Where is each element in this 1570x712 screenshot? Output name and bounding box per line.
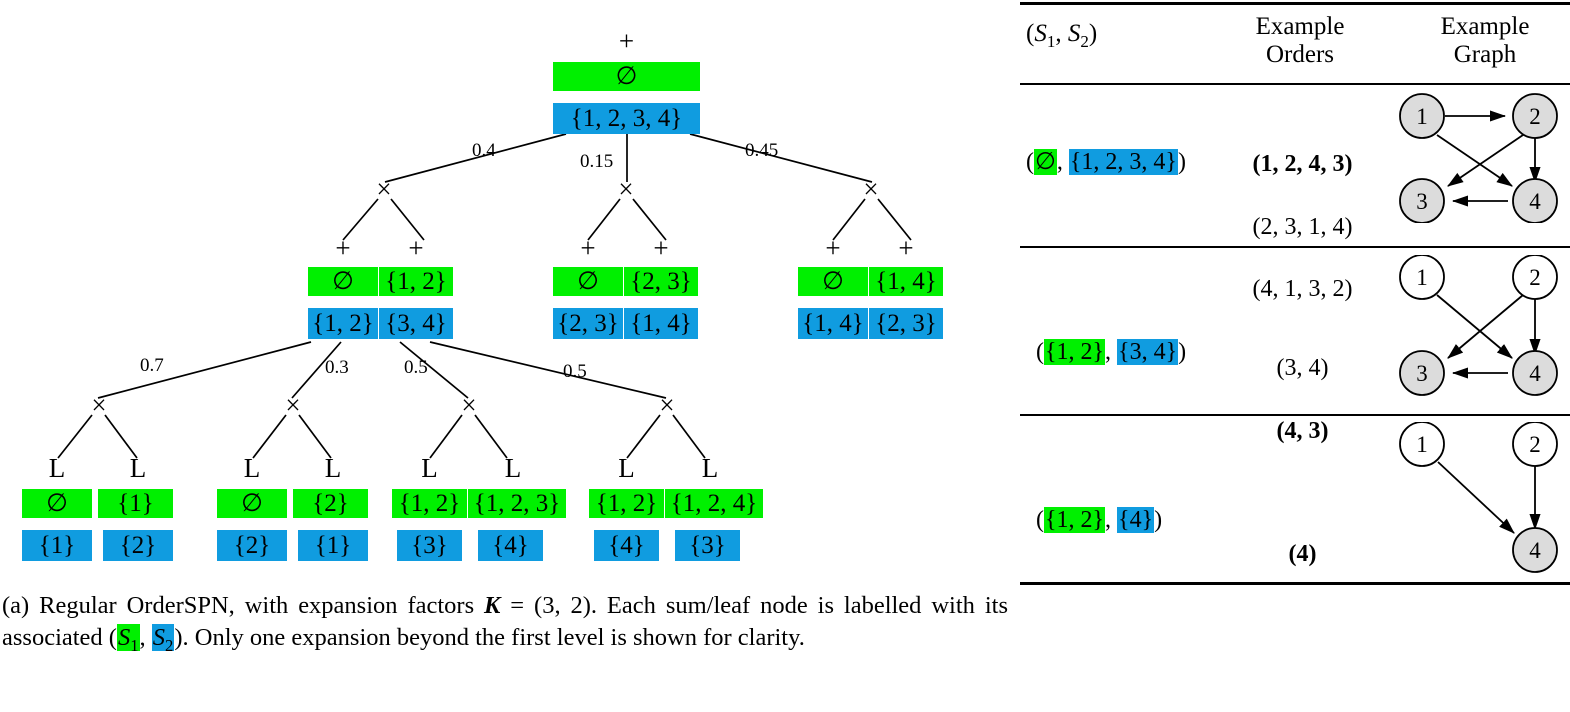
- product-op-0: ×: [369, 176, 399, 203]
- leaf-s2-box-4: {3}: [397, 530, 462, 561]
- caption-a-text-1: Regular OrderSPN, with expansion factors: [29, 592, 484, 619]
- leaf-s1-box-5: {1, 2, 3}: [468, 489, 566, 518]
- level2-weight-3: 0.5: [563, 362, 587, 381]
- leaf-op-2: L: [217, 455, 287, 482]
- sum-s1-box-3: {2, 3}: [624, 267, 698, 296]
- leaf-s1-box-3: {2}: [293, 489, 368, 518]
- leaf-op-5: L: [468, 455, 558, 482]
- level2-weight-2: 0.5: [404, 358, 428, 377]
- caption-a-s2-highlight: S2: [152, 624, 175, 651]
- svg-text:4: 4: [1529, 538, 1541, 563]
- row-2-orders: (4): [1215, 508, 1390, 602]
- leaf-s1-box-4: {1, 2}: [392, 489, 467, 518]
- caption-a-eq: =: [500, 592, 534, 619]
- leaf-s2-box-3: {1}: [298, 530, 368, 561]
- sum-s1-box-1: {1, 2}: [379, 267, 453, 296]
- row-0-order-2: (4, 1, 3, 2): [1215, 274, 1390, 305]
- root-sum-op: +: [553, 28, 700, 55]
- leaf-s2-box-2: {2}: [217, 530, 287, 561]
- sum-s2-box-1: {3, 4}: [379, 308, 453, 339]
- svg-text:2: 2: [1529, 104, 1541, 129]
- row-1-s2: {3, 4}: [1117, 339, 1178, 365]
- svg-text:4: 4: [1529, 189, 1541, 214]
- header-col-orders: Example Orders: [1210, 13, 1390, 69]
- root-weight-2: 0.45: [745, 141, 778, 160]
- header-col-graph: Example Graph: [1400, 13, 1570, 69]
- svg-text:3: 3: [1416, 189, 1428, 214]
- svg-text:1: 1: [1416, 265, 1428, 290]
- svg-text:4: 4: [1529, 361, 1541, 386]
- row-0-orders: (1, 2, 4, 3) (2, 3, 1, 4) (4, 1, 3, 2): [1215, 118, 1390, 336]
- leaf-product-op-1: ×: [278, 392, 308, 419]
- leaf-s1-box-0: ∅: [22, 489, 92, 518]
- row-2-graph: 1 2 4: [1380, 422, 1570, 577]
- sum-s1-box-5: {1, 4}: [869, 267, 943, 296]
- sum-op-5: +: [869, 235, 943, 262]
- root-s2-box: {1, 2, 3, 4}: [553, 103, 700, 134]
- sum-op-3: +: [624, 235, 698, 262]
- row-2-order-0: (4): [1215, 539, 1390, 570]
- caption-a-label: (a): [2, 592, 29, 619]
- row-1-order-0: (3, 4): [1215, 353, 1390, 384]
- level2-weight-1: 0.3: [325, 358, 349, 377]
- sum-s1-box-4: ∅: [798, 267, 868, 296]
- caption-a-s1-symbol: S: [118, 624, 130, 651]
- leaf-s1-box-1: {1}: [98, 489, 173, 518]
- sum-s2-box-0: {1, 2}: [308, 308, 378, 339]
- leaf-op-1: L: [103, 455, 173, 482]
- sum-op-2: +: [553, 235, 623, 262]
- level2-weight-0: 0.7: [140, 356, 164, 375]
- row-1-order-1: (4, 3): [1215, 416, 1390, 447]
- product-op-2: ×: [856, 176, 886, 203]
- row-1-orders: (3, 4) (4, 3): [1215, 322, 1390, 478]
- leaf-op-6: L: [589, 455, 664, 482]
- sum-s1-box-2: ∅: [553, 267, 623, 296]
- sum-s1-box-0: ∅: [308, 267, 378, 296]
- svg-text:2: 2: [1529, 265, 1541, 290]
- root-s1-box: ∅: [553, 62, 700, 91]
- leaf-op-7: L: [665, 455, 755, 482]
- root-weight-0: 0.4: [472, 141, 496, 160]
- leaf-s1-box-2: ∅: [217, 489, 287, 518]
- leaf-s1-box-7: {1, 2, 4}: [665, 489, 763, 518]
- caption-a-text-3: ). Only one expansion beyond the first l…: [174, 624, 805, 651]
- caption-a-s1-highlight: S1: [117, 624, 140, 651]
- row-2-pair: ({1, 2}, {4}): [1036, 508, 1162, 532]
- leaf-product-op-3: ×: [652, 392, 682, 419]
- caption-a-s2-symbol: S: [153, 624, 165, 651]
- panel-b-examples-table: (S1, S2) Example Orders Example Graph (∅…: [1020, 0, 1570, 712]
- row-0-order-0: (1, 2, 4, 3): [1215, 149, 1390, 180]
- product-op-1: ×: [611, 176, 641, 203]
- sum-op-1: +: [379, 235, 453, 262]
- table-rule-header: [1020, 83, 1570, 85]
- svg-text:2: 2: [1529, 432, 1541, 457]
- sum-op-4: +: [798, 235, 868, 262]
- caption-a: (a) Regular OrderSPN, with expansion fac…: [2, 590, 1008, 656]
- leaf-s2-box-6: {4}: [594, 530, 659, 561]
- caption-a-comma: ,: [140, 624, 152, 651]
- leaf-s2-box-0: {1}: [22, 530, 92, 561]
- leaf-s2-box-7: {3}: [675, 530, 740, 561]
- leaf-s2-box-1: {2}: [103, 530, 173, 561]
- sum-s2-box-5: {2, 3}: [869, 308, 943, 339]
- leaf-s1-box-6: {1, 2}: [589, 489, 664, 518]
- row-1-graph: 1 2 3 4: [1380, 255, 1570, 405]
- svg-text:1: 1: [1416, 432, 1428, 457]
- root-weight-1: 0.15: [580, 152, 613, 171]
- row-0-pair: (∅, {1, 2, 3, 4}): [1026, 150, 1186, 174]
- row-0-s2: {1, 2, 3, 4}: [1069, 149, 1178, 175]
- leaf-op-0: L: [22, 455, 92, 482]
- sum-s2-box-2: {2, 3}: [553, 308, 623, 339]
- sum-s2-box-4: {1, 4}: [798, 308, 868, 339]
- svg-text:1: 1: [1416, 104, 1428, 129]
- table-rule-top: [1020, 2, 1570, 5]
- leaf-op-3: L: [298, 455, 368, 482]
- sum-op-0: +: [308, 235, 378, 262]
- row-2-s1: {1, 2}: [1044, 507, 1105, 533]
- caption-a-s1-subscript: 1: [130, 636, 138, 655]
- leaf-s2-box-5: {4}: [478, 530, 543, 561]
- caption-a-k-value: (3, 2): [534, 592, 591, 619]
- leaf-product-op-0: ×: [84, 392, 114, 419]
- row-1-s1: {1, 2}: [1044, 339, 1105, 365]
- row-0-graph: 1 2 3 4: [1380, 88, 1570, 223]
- row-0-s1: ∅: [1034, 149, 1057, 175]
- panel-a-orderspn-tree: + ∅ {1, 2, 3, 4} 0.4 0.15 0.45 × × × + ∅…: [0, 0, 1010, 712]
- leaf-product-op-2: ×: [454, 392, 484, 419]
- caption-a-s2-subscript: 2: [165, 636, 173, 655]
- svg-text:3: 3: [1416, 361, 1428, 386]
- sum-s2-box-3: {1, 4}: [624, 308, 698, 339]
- leaf-op-4: L: [392, 455, 467, 482]
- caption-a-math-k: K: [484, 592, 500, 619]
- row-0-order-1: (2, 3, 1, 4): [1215, 212, 1390, 243]
- header-col-pair: (S1, S2): [1026, 20, 1206, 51]
- row-2-s2: {4}: [1117, 507, 1154, 533]
- row-1-pair: ({1, 2}, {3, 4}): [1036, 340, 1186, 364]
